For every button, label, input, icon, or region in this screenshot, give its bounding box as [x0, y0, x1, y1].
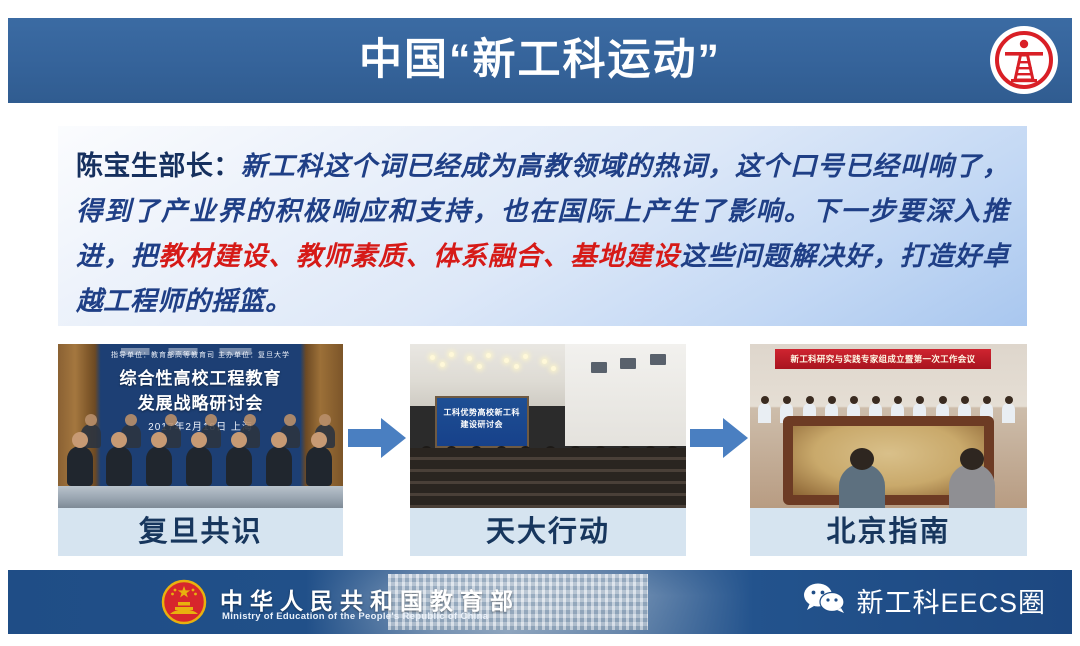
milestone-caption-fudan: 复旦共识: [58, 508, 343, 556]
ceiling-lights: [421, 350, 576, 390]
header-band: 中国“新工科运动”: [8, 18, 1072, 103]
tianda-screen-line2: 建设研讨会: [437, 419, 527, 430]
quote-speaker: 陈宝生部长：: [76, 151, 241, 181]
tianjin-university-logo: [990, 26, 1058, 94]
ministry-name-en: Ministry of Education of the People's Re…: [222, 611, 488, 622]
wechat-account[interactable]: 新工科EECS圈: [802, 581, 1046, 620]
arrow-right-icon: [690, 416, 748, 460]
beijing-guide-photo: 新工科研究与实践专家组成立暨第一次工作会议: [750, 344, 1027, 508]
fudan-banner-top: 指导单位：教育部高等教育司 主办单位：复旦大学: [58, 350, 343, 360]
milestone-row: 指导单位：教育部高等教育司 主办单位：复旦大学 综合性高校工程教育 发展战略研讨…: [0, 344, 1080, 556]
milestone-card-beijing[interactable]: 新工科研究与实践专家组成立暨第一次工作会议 北京指南: [750, 344, 1027, 556]
tianda-screen-line1: 工科优势高校新工科: [437, 407, 527, 418]
arrow-right-icon: [348, 416, 406, 460]
milestone-card-fudan[interactable]: 指导单位：教育部高等教育司 主办单位：复旦大学 综合性高校工程教育 发展战略研讨…: [58, 344, 343, 556]
milestone-caption-tianda: 天大行动: [410, 508, 686, 556]
milestone-caption-beijing: 北京指南: [750, 508, 1027, 556]
fudan-consensus-photo: 指导单位：教育部高等教育司 主办单位：复旦大学 综合性高校工程教育 发展战略研讨…: [58, 344, 343, 508]
beijing-banner-text: 新工科研究与实践专家组成立暨第一次工作会议: [791, 353, 976, 365]
milestone-card-tianda[interactable]: 工科优势高校新工科 建设研讨会 天大行动: [410, 344, 686, 556]
wechat-account-label: 新工科EECS圈: [856, 581, 1046, 620]
national-emblem-icon: [160, 578, 208, 626]
footer-band: 中华人民共和国教育部 Ministry of Education of the …: [8, 570, 1072, 634]
fudan-panel-row: [58, 430, 343, 486]
wechat-icon: [802, 582, 846, 619]
fudan-banner-line2: 发展战略研讨会: [58, 389, 343, 414]
slide-root: 中国“新工科运动” 陈宝生部长：新工科这个词已经成为高教领域的热词，这个口号已经…: [0, 0, 1080, 646]
fudan-banner-line1: 综合性高校工程教育: [58, 364, 343, 389]
quote-text: 陈宝生部长：新工科这个词已经成为高教领域的热词，这个口号已经叫响了，得到了产业界…: [76, 144, 1009, 324]
beijing-banner: 新工科研究与实践专家组成立暨第一次工作会议: [775, 349, 991, 369]
tianda-action-photo: 工科优势高校新工科 建设研讨会: [410, 344, 686, 508]
quote-highlight: 教材建设、教师素质、体系融合、基地建设: [158, 241, 680, 271]
page-title: 中国“新工科运动”: [8, 18, 1072, 103]
tianda-screen: 工科优势高校新工科 建设研讨会: [435, 396, 529, 448]
quote-box: 陈宝生部长：新工科这个词已经成为高教领域的热词，这个口号已经叫响了，得到了产业界…: [58, 126, 1027, 326]
